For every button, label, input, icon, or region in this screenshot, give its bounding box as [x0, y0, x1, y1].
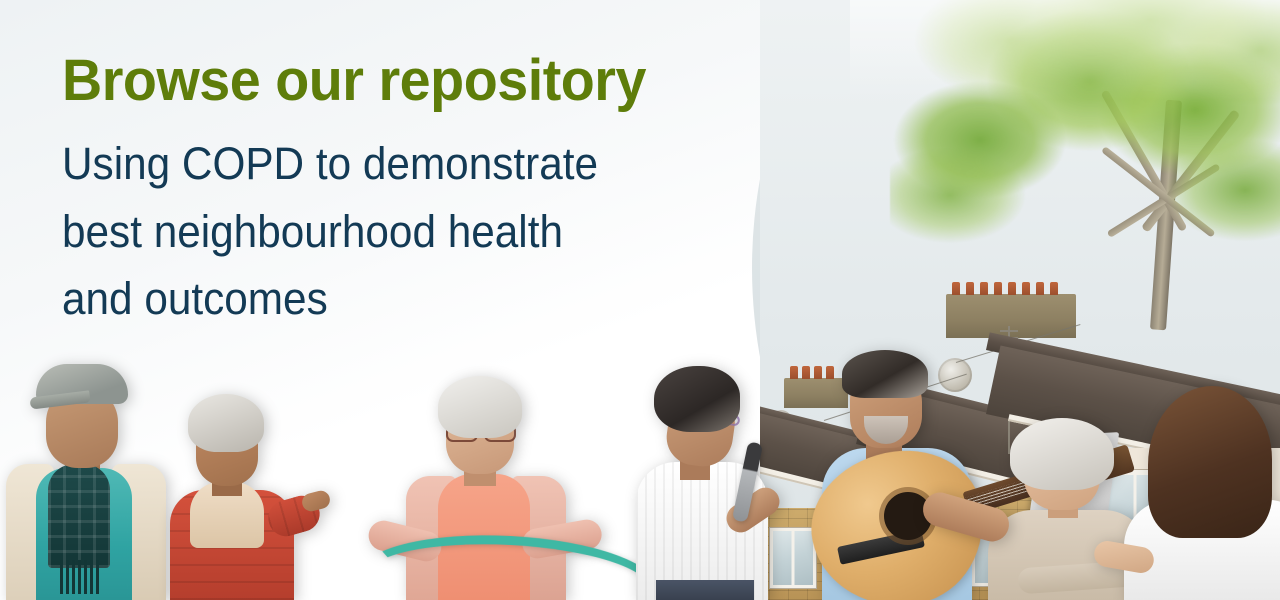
hero-text-block: Browse our repository Using COPD to demo… [62, 52, 762, 333]
person-clinician [1118, 394, 1280, 600]
person-older-woman-red-coat [150, 394, 328, 600]
subtitle-line-1: Using COPD to demonstrate [62, 130, 720, 198]
page-subtitle: Using COPD to demonstrate best neighbour… [62, 130, 720, 333]
subtitle-line-3: and outcomes [62, 265, 720, 333]
hero-banner: Browse our repository Using COPD to demo… [0, 0, 1280, 600]
page-title: Browse our repository [62, 52, 734, 110]
subtitle-line-2: best neighbourhood health [62, 198, 720, 266]
person-older-man-flat-cap [8, 364, 168, 600]
person-woman-singing [628, 366, 804, 600]
